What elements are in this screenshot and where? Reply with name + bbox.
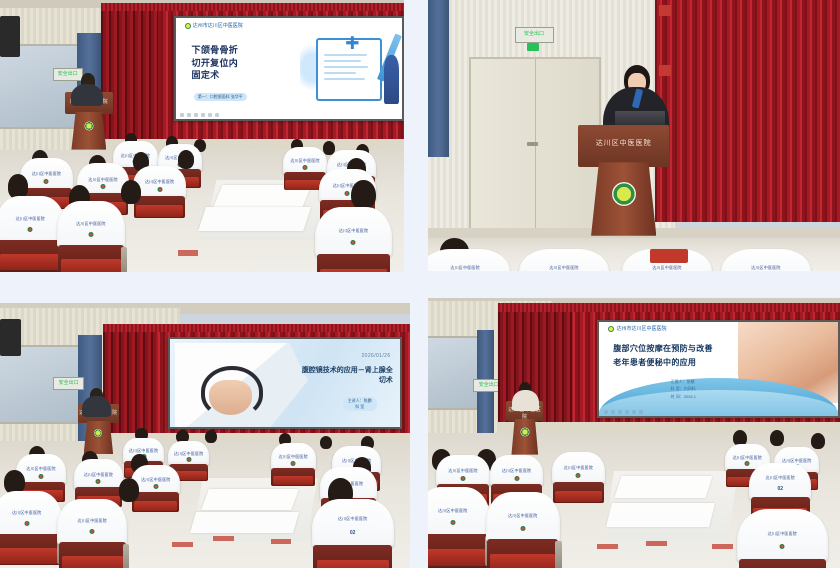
seat-cover-label: 达川区中医医院 (737, 531, 828, 537)
chair: 达川区中医医院 (0, 491, 62, 565)
seat-cover-label: 达川区中医医院 (486, 513, 560, 519)
projection-screen: 达州市达川区中医医院 腹部穴位按摩在预防与改善 老年患者便秘中的应用 汇报人：张… (597, 320, 840, 419)
slide-date: 2026/01/26 (361, 353, 390, 359)
hospital-name: 达州市达川区中医医院 (616, 325, 666, 332)
exit-sign: 安全出口 (515, 27, 554, 43)
seat-cover-label: 达川区中医医院 (749, 475, 811, 481)
seat-cover-label: 达川区中医医院 (519, 265, 610, 271)
chair: 达川区中医医院 (271, 443, 316, 485)
chair: 达川区中医医院 (428, 487, 490, 568)
red-seat-cushion (650, 249, 687, 263)
chair: 达川区中医医院 (428, 249, 510, 271)
seat-number: 02 (312, 530, 394, 536)
seat-cover-label: 达川区中医医院 (271, 454, 316, 460)
seat-cover-label: 达川区中医医院 (436, 468, 490, 474)
floor-paper (614, 476, 712, 498)
podium-label: 达川区中医医院 (578, 138, 669, 148)
slide-title: 下颌骨骨折 切开复位内 固定术 (192, 44, 296, 80)
photo-bottom-left: 安全出口 2026/01/26 腹腔镜技术的应用－肾上腺全 切术 (0, 303, 410, 568)
seat-cover-label: 达川区中医医院 (725, 455, 770, 461)
chair: 达川区中医医院 (57, 201, 126, 272)
seat-cover-label: 达川区中医医院 (721, 265, 812, 271)
floor-paper (190, 512, 299, 533)
slide-hospital-header: 达州市达川区中医医院 (185, 22, 243, 29)
exit-sign-label: 安全出口 (58, 72, 78, 77)
exit-sign: 安全出口 (53, 68, 83, 81)
hospital-emblem-icon (84, 121, 93, 130)
seat-cover-label: 达川区中医医院 (16, 466, 65, 472)
hospital-name: 达州市达川区中医医院 (193, 22, 243, 29)
door-handle-icon (527, 142, 537, 146)
seat-number: 02 (749, 486, 811, 492)
chair: 达川区中医医院 (57, 499, 127, 568)
seat-cover-label: 达川区中医医院 (428, 508, 490, 514)
stage-curtain (655, 0, 840, 222)
speaker-box-icon (0, 319, 21, 356)
hospital-emblem-icon (612, 182, 636, 206)
projection-screen: 达州市达川区中医医院 下颌骨骨折 切开复位内 固定术 第一：口腔颌面科 张华平 (174, 16, 404, 121)
slide-title-line-2: 切术 (250, 376, 392, 387)
chair-numbered: 达川区中医医院 02 (312, 499, 394, 568)
presenter-body (82, 396, 111, 417)
photo-top-left: 安全出口 达州市达川区中医医院 下颌骨骨折 切开复位内 固定术 (0, 0, 404, 272)
slide-meta: 汇报人：张敏 科 室：内四科 时 间：2026.1 (671, 378, 696, 400)
seat-cover-label: 达川区中医医院 (74, 472, 123, 478)
slide-title-line-2: 老年患者便秘中的应用 (613, 356, 752, 370)
slide-title-line-1: 腹腔镜技术的应用－肾上腺全 (250, 366, 392, 377)
projection-screen: 2026/01/26 腹腔镜技术的应用－肾上腺全 切术 主讲人：陈鹏 科 室 (168, 337, 402, 428)
exit-sign: 安全出口 (53, 377, 84, 390)
seat-cover-label: 达川区中医医院 (428, 265, 510, 271)
slide-department: 科 室 (348, 404, 372, 410)
photo-bottom-right: 安全出口 达州市达川区中医医院 腹部穴位按摩在预防与改善 老年患者便秘中的应用 (428, 298, 840, 568)
seat-cover-label: 达川区中医医院 (77, 177, 130, 183)
seat-cover-label: 达川区中医医院 (622, 265, 713, 271)
seat-cover-label: 达川区中医医院 (133, 179, 186, 185)
seat-cover-label: 达川区中医医院 (20, 171, 73, 177)
slide-presenter-info: 主讲人：陈鹏 科 室 (343, 397, 377, 411)
floor-paper (198, 207, 311, 231)
floor-marker (178, 250, 198, 255)
floor-paper (201, 489, 299, 510)
chair: 达川区中医医院 (0, 196, 65, 272)
seat-cover-label: 达川区中医医院 (490, 468, 544, 474)
person-illustration (384, 55, 400, 104)
seat-cover-label: 达川区中医医院 (131, 477, 180, 483)
seat-cover-label: 达川区中医医院 (0, 216, 65, 222)
slide-content: 达州市达川区中医医院 下颌骨骨折 切开复位内 固定术 第一：口腔颌面科 张华平 (176, 18, 402, 119)
seat-cover-label: 达川区中医医院 (57, 518, 127, 524)
document-card-icon (316, 38, 382, 102)
slide-content: 达州市达川区中医医院 腹部穴位按摩在预防与改善 老年患者便秘中的应用 汇报人：张… (599, 322, 838, 417)
seat-cover-label: 达川区中医医院 (315, 228, 392, 234)
slide-title: 腹腔镜技术的应用－肾上腺全 切术 (250, 366, 392, 387)
slide-department: 科 室：内四科 (671, 385, 696, 392)
seat-cover-label: 达川区中医医院 (0, 510, 62, 516)
chair: 达川区中医医院 (486, 492, 560, 568)
hospital-emblem-icon (94, 429, 102, 437)
presenter-body (512, 390, 539, 412)
chair: 达川区中医医院 (737, 509, 828, 568)
hospital-logo-icon (185, 23, 191, 29)
slide-title-line-1: 下颌骨骨折 (192, 44, 296, 56)
exit-sign-label: 安全出口 (479, 383, 499, 388)
wall-fixture (659, 5, 671, 16)
restroom-pictogram-icon (527, 43, 539, 51)
slide-content: 2026/01/26 腹腔镜技术的应用－肾上腺全 切术 主讲人：陈鹏 科 室 (170, 339, 400, 426)
slide-title-line-1: 腹部穴位按摩在预防与改善 (613, 342, 752, 356)
slide-toolbar (604, 410, 643, 414)
exit-sign-label: 安全出口 (524, 32, 544, 37)
slide-title: 腹部穴位按摩在预防与改善 老年患者便秘中的应用 (613, 342, 752, 369)
photo-collage: 安全出口 达州市达川区中医医院 下颌骨骨折 切开复位内 固定术 (0, 0, 840, 568)
hospital-emblem-icon (520, 427, 529, 436)
seat-cover-label: 达川区中医医院 (552, 465, 606, 471)
podium: 达川区中医医院 (578, 125, 669, 236)
hospital-logo-icon (608, 326, 614, 332)
seat-cover-label: 达川区中医医院 (57, 221, 126, 227)
medical-cross-icon (346, 36, 358, 49)
chair: 达川区中医医院 (133, 166, 186, 218)
chair: 达川区中医医院 (721, 249, 812, 271)
slide-date: 时 间：2026.1 (671, 393, 696, 400)
slide-title-line-3: 固定术 (192, 69, 296, 81)
speaker-box-icon (0, 16, 20, 57)
blue-drape (428, 0, 449, 157)
hands-illustration (209, 380, 252, 415)
slide-presenter: 汇报人：张敏 (671, 378, 696, 385)
exit-sign-label: 安全出口 (59, 381, 79, 386)
presenter-body (71, 84, 103, 106)
seat-cover-label: 达川区中医医院 (283, 158, 327, 164)
floor-paper (606, 503, 715, 527)
photo-top-right: 安全出口 达川区中医医院 (428, 0, 840, 271)
slide-subtitle: 第一：口腔颌面科 张华平 (194, 93, 247, 101)
seat-cover-label: 达川区中医医院 (312, 516, 394, 522)
slide-toolbar (180, 113, 219, 117)
slide-title-line-2: 切开复位内 (192, 57, 296, 69)
wall-fixture (659, 65, 671, 76)
slide-artwork (298, 28, 398, 106)
chair: 达川区中医医院 (315, 207, 392, 272)
chair: 达川区中医医院 (519, 249, 610, 271)
slide-hospital-header: 达州市达川区中医医院 (608, 325, 666, 332)
